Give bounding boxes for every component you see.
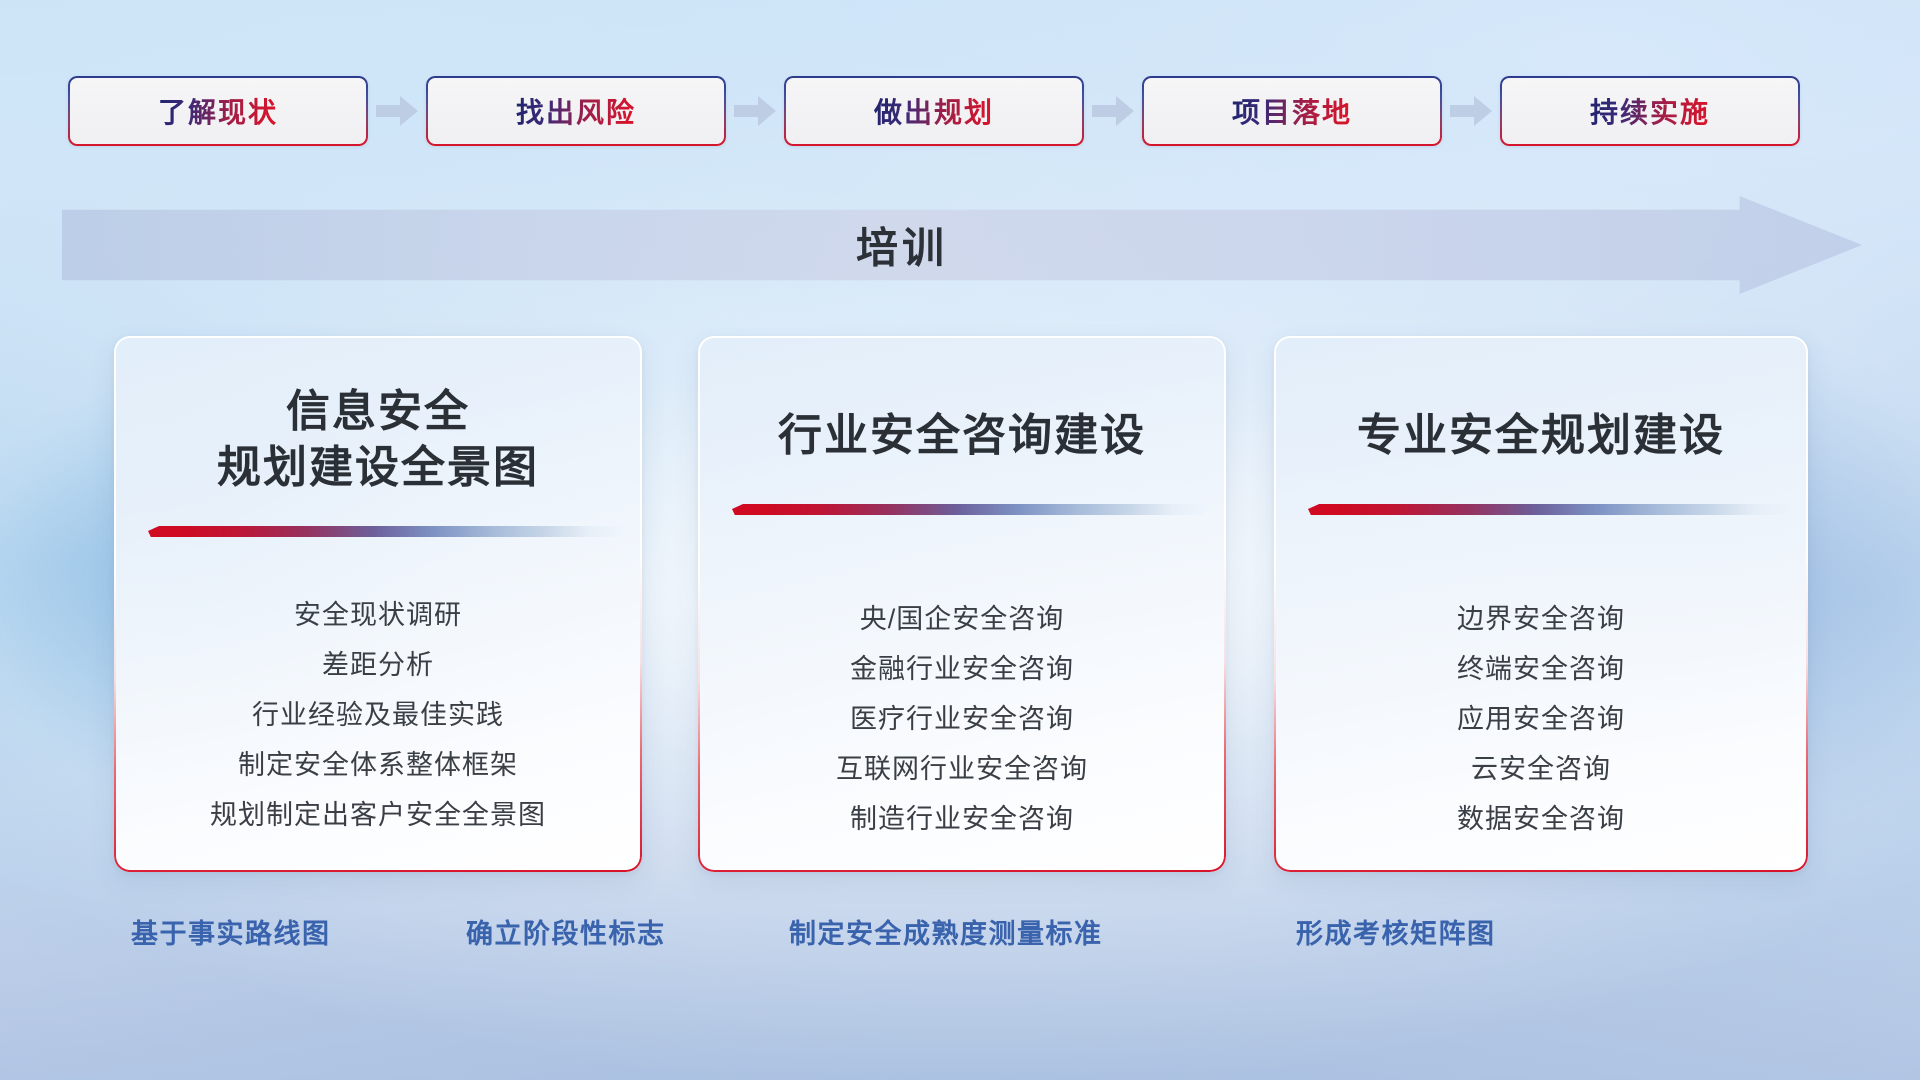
step-box-5[interactable]: 持续实施 — [1500, 76, 1800, 146]
card-title-1-line2: 规划建设全景图 — [114, 440, 642, 496]
list-item: 制造行业安全咨询 — [698, 794, 1226, 844]
list-item: 云安全咨询 — [1274, 744, 1808, 794]
card-title-1: 信息安全 规划建设全景图 — [114, 384, 642, 497]
banner-label: 培训 — [62, 215, 1862, 276]
list-item: 行业经验及最佳实践 — [114, 690, 642, 740]
caption-row: 基于事实路线图 确立阶段性标志 制定安全成熟度测量标准 形成考核矩阵图 — [0, 912, 1920, 962]
card-industry-security-consulting[interactable]: 行业安全咨询建设 央/国企安全咨询 金融行业安全咨询 医疗行业安全咨询 互联网行… — [698, 336, 1226, 872]
step-label-5: 持续实施 — [1590, 91, 1710, 131]
step-label-1: 了解现状 — [158, 91, 278, 131]
list-item: 互联网行业安全咨询 — [698, 744, 1226, 794]
step-label-3: 做出规划 — [874, 91, 994, 131]
card-title-3-line1: 专业安全规划建设 — [1274, 408, 1808, 464]
process-steps: 了解现状 找出风险 做出规划 项目落地 持续实施 — [68, 76, 1858, 146]
card-divider-1 — [148, 526, 626, 537]
list-item: 安全现状调研 — [114, 590, 642, 640]
arrow-right-icon — [1442, 76, 1500, 146]
card-title-2: 行业安全咨询建设 — [698, 408, 1226, 464]
caption-2: 确立阶段性标志 — [466, 912, 666, 951]
step-label-4: 项目落地 — [1232, 91, 1352, 131]
step-box-4[interactable]: 项目落地 — [1142, 76, 1442, 146]
list-item: 规划制定出客户安全全景图 — [114, 790, 642, 840]
card-professional-security-planning[interactable]: 专业安全规划建设 边界安全咨询 终端安全咨询 应用安全咨询 云安全咨询 数据安全… — [1274, 336, 1808, 872]
card-list-1: 安全现状调研 差距分析 行业经验及最佳实践 制定安全体系整体框架 规划制定出客户… — [114, 590, 642, 840]
step-box-2[interactable]: 找出风险 — [426, 76, 726, 146]
list-item: 金融行业安全咨询 — [698, 644, 1226, 694]
list-item: 医疗行业安全咨询 — [698, 694, 1226, 744]
caption-1: 基于事实路线图 — [131, 912, 331, 951]
arrow-right-icon — [1084, 76, 1142, 146]
step-box-3[interactable]: 做出规划 — [784, 76, 1084, 146]
list-item: 应用安全咨询 — [1274, 694, 1808, 744]
list-item: 终端安全咨询 — [1274, 644, 1808, 694]
caption-4: 形成考核矩阵图 — [1296, 912, 1496, 951]
list-item: 央/国企安全咨询 — [698, 594, 1226, 644]
list-item: 边界安全咨询 — [1274, 594, 1808, 644]
card-group: 信息安全 规划建设全景图 安全现状调研 差距分析 行业经验及最佳实践 制定安全体… — [0, 336, 1920, 872]
card-title-3: 专业安全规划建设 — [1274, 408, 1808, 464]
caption-3: 制定安全成熟度测量标准 — [789, 912, 1103, 951]
card-divider-2 — [732, 504, 1210, 515]
card-list-2: 央/国企安全咨询 金融行业安全咨询 医疗行业安全咨询 互联网行业安全咨询 制造行… — [698, 594, 1226, 844]
list-item: 数据安全咨询 — [1274, 794, 1808, 844]
card-information-security[interactable]: 信息安全 规划建设全景图 安全现状调研 差距分析 行业经验及最佳实践 制定安全体… — [114, 336, 642, 872]
card-list-3: 边界安全咨询 终端安全咨询 应用安全咨询 云安全咨询 数据安全咨询 — [1274, 594, 1808, 844]
step-box-1[interactable]: 了解现状 — [68, 76, 368, 146]
card-title-2-line1: 行业安全咨询建设 — [698, 408, 1226, 464]
arrow-right-icon — [368, 76, 426, 146]
card-title-1-line1: 信息安全 — [114, 384, 642, 440]
step-label-2: 找出风险 — [516, 91, 636, 131]
training-banner: 培训 — [62, 196, 1862, 294]
arrow-right-icon — [726, 76, 784, 146]
card-divider-3 — [1308, 504, 1792, 515]
list-item: 制定安全体系整体框架 — [114, 740, 642, 790]
list-item: 差距分析 — [114, 640, 642, 690]
